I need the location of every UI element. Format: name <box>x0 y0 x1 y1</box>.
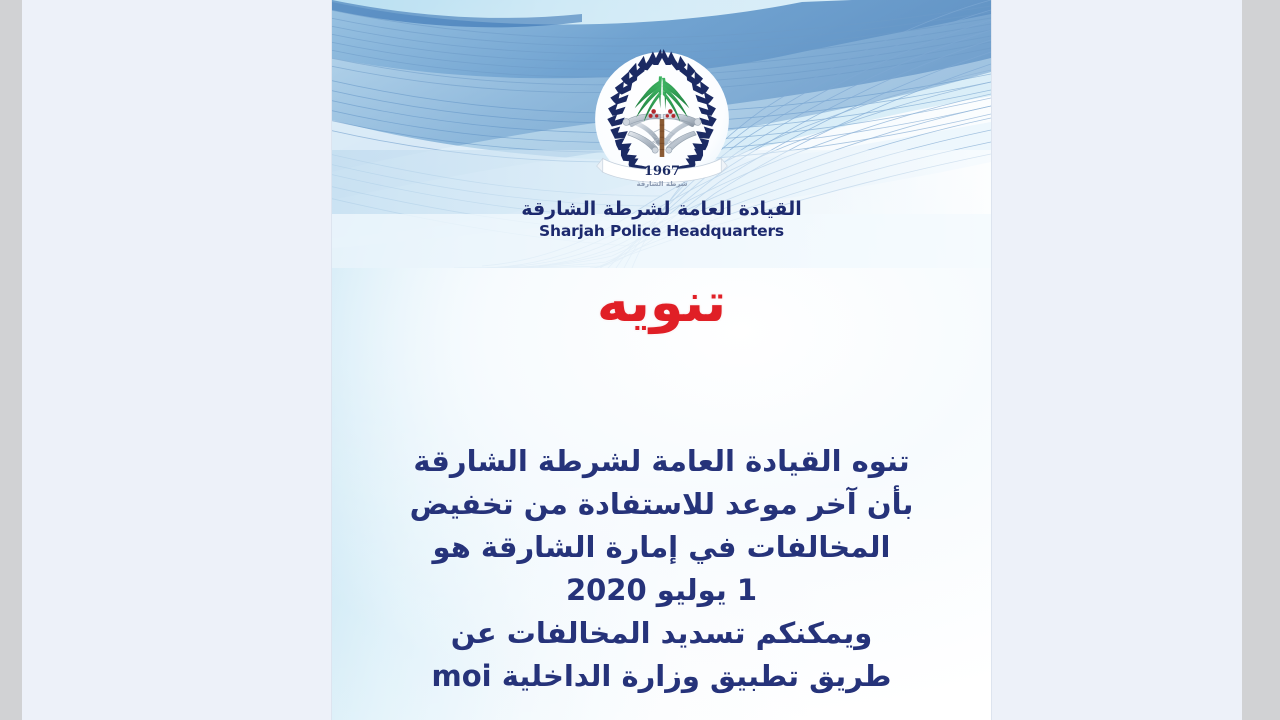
notice-body-line-2: بأن آخر موعد للاستفادة من تخفيض <box>360 483 963 526</box>
sharjah-police-crest-icon: 1967 شرطة الشارقة <box>586 46 738 198</box>
crest-year-text: 1967 <box>644 164 680 179</box>
notice-heading: تنويه <box>332 276 991 330</box>
emblem-block: 1967 شرطة الشارقة القيادة العامة لشرطة ا… <box>332 46 991 240</box>
wordmark: القيادة العامة لشرطة الشارقة Sharjah Pol… <box>332 200 991 240</box>
notice-body-line-5: ويمكنكم تسديد المخالفات عن <box>360 612 963 655</box>
viewer-gutter-left <box>0 0 22 720</box>
crest-ribbon-subtext: شرطة الشارقة <box>636 180 687 188</box>
notice-body-line-4: 1 يوليو 2020 <box>360 569 963 612</box>
wordmark-arabic: القيادة العامة لشرطة الشارقة <box>332 200 991 220</box>
notice-body-line-6: طريق تطبيق وزارة الداخلية moi <box>360 655 963 698</box>
notice-body-line-1: تنوه القيادة العامة لشرطة الشارقة <box>360 440 963 483</box>
notice-body-line-3: المخالفات في إمارة الشارقة هو <box>360 526 963 569</box>
wordmark-english: Sharjah Police Headquarters <box>332 223 991 240</box>
notice-poster: 1967 شرطة الشارقة القيادة العامة لشرطة ا… <box>332 0 991 720</box>
image-viewer: 1967 شرطة الشارقة القيادة العامة لشرطة ا… <box>0 0 1280 720</box>
viewer-gutter-right <box>1242 0 1280 720</box>
notice-body: تنوه القيادة العامة لشرطة الشارقة بأن آخ… <box>360 440 963 698</box>
